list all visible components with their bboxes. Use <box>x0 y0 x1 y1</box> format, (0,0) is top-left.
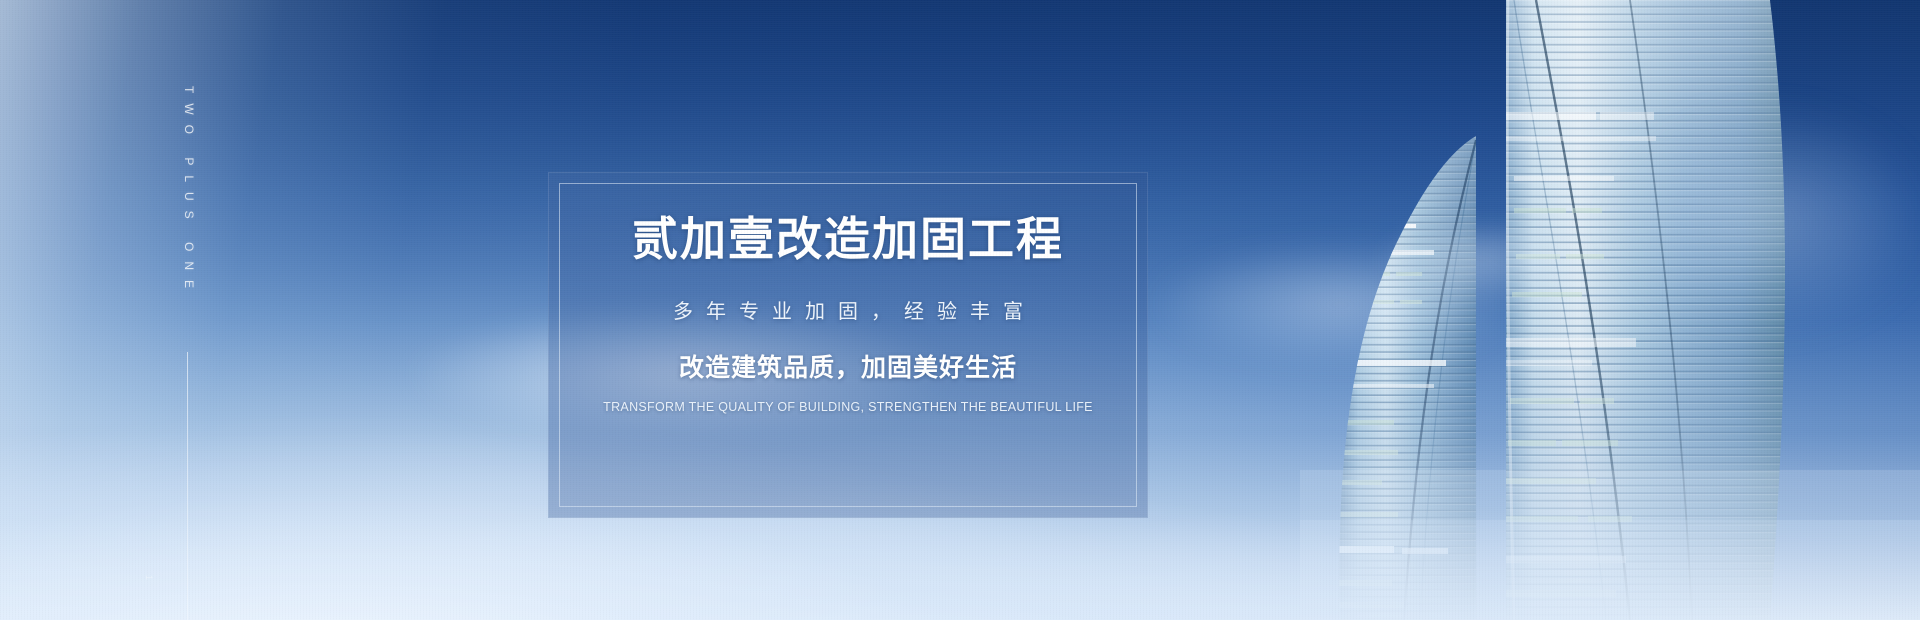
panel-content: 贰加壹改造加固工程 多年专业加固，经验丰富 改造建筑品质，加固美好生活 TRAN… <box>548 172 1148 518</box>
hero-text-panel: 贰加壹改造加固工程 多年专业加固，经验丰富 改造建筑品质，加固美好生活 TRAN… <box>548 172 1148 518</box>
brand-rail: TWO PLUS ONE 1 <box>186 0 189 620</box>
brand-vertical-text: TWO PLUS ONE <box>180 86 196 298</box>
cloud-wisp <box>1330 200 1630 320</box>
hero-subline: 多年专业加固，经验丰富 <box>660 295 1036 324</box>
hero-english-tagline: TRANSFORM THE QUALITY OF BUILDING, STREN… <box>603 400 1093 414</box>
brand-corner-mark: 1 <box>144 575 154 581</box>
hero-tagline: 改造建筑品质，加固美好生活 <box>679 348 1017 384</box>
brand-divider-line <box>187 352 188 620</box>
hero-headline: 贰加壹改造加固工程 <box>632 214 1064 265</box>
hero-banner: TWO PLUS ONE 1 贰加壹改造加固工程 多年专业加固，经验丰富 改造建… <box>0 0 1920 620</box>
